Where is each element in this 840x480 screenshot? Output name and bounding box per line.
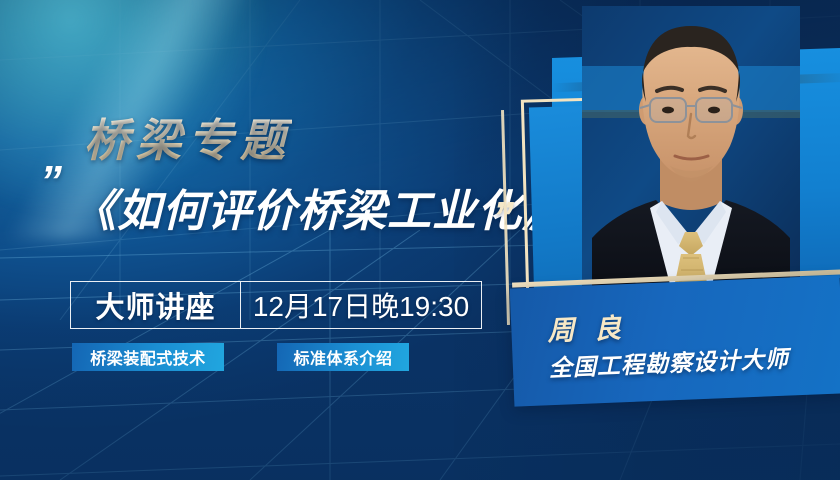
topic-tag-2[interactable]: 标准体系介绍	[277, 343, 409, 371]
quote-open-mark: ”	[40, 160, 58, 204]
lecture-datetime: 12月17日晚19:30	[241, 282, 481, 328]
lecture-category-label: 大师讲座	[95, 284, 215, 326]
lecture-datetime-label: 12月17日晚19:30	[253, 285, 469, 325]
lecture-poster: 桥梁专题 ” 《如何评价桥梁工业化》 ” 大师讲座 12月17日晚19:30 桥…	[0, 0, 840, 480]
topic-tag-1[interactable]: 桥梁装配式技术	[72, 343, 224, 371]
speaker-photo	[582, 6, 800, 292]
speaker-stage: 周 良 全国工程勘察设计大师	[490, 0, 840, 480]
lecture-category: 大师讲座	[71, 282, 241, 328]
page-title: 桥梁专题	[84, 104, 292, 169]
lecture-info-bar: 大师讲座 12月17日晚19:30	[70, 281, 482, 329]
speaker-nameplate: 周 良 全国工程勘察设计大师	[510, 275, 840, 406]
decor-accent-line	[501, 110, 510, 325]
